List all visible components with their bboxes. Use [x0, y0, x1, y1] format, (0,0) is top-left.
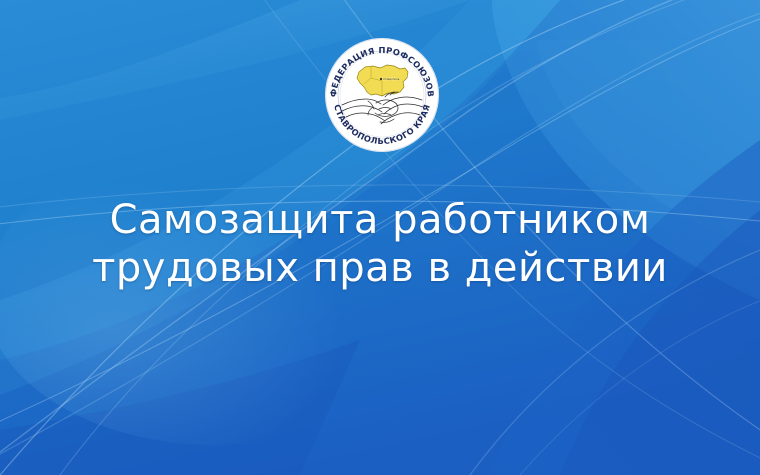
title-line-2: трудовых прав в действии: [0, 244, 760, 292]
city-marker-icon: [380, 78, 382, 80]
slide-title: Самозащита работником трудовых прав в де…: [0, 196, 760, 292]
federation-logo: Ставрополь: [324, 37, 440, 153]
title-line-1: Самозащита работником: [0, 196, 760, 244]
presentation-slide: Ставрополь: [0, 0, 760, 475]
map-city-label: Ставрополь: [383, 77, 400, 81]
federation-logo-graphic: Ставрополь: [324, 37, 440, 153]
